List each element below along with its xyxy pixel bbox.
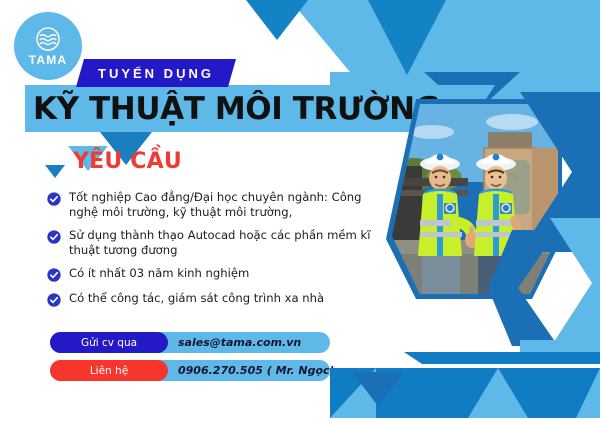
- requirements-heading: YÊU CẦU: [73, 149, 182, 174]
- requirements-list: Tốt nghiệp Cao đẳng/Đại học chuyên ngành…: [47, 190, 377, 316]
- list-item: Có ít nhất 03 năm kinh nghiệm: [47, 266, 377, 282]
- list-item: Có thể công tác, giám sát công trình xa …: [47, 291, 377, 307]
- brand-name: TAMA: [29, 53, 68, 67]
- top-triangle-dark-1: [246, 0, 308, 40]
- contact-row-email[interactable]: Gửi cv qua sales@tama.com.vn: [50, 332, 330, 353]
- contact-label: Gửi cv qua: [50, 332, 168, 353]
- list-item: Tốt nghiệp Cao đẳng/Đại học chuyên ngành…: [47, 190, 377, 219]
- contact-label: Liên hệ: [50, 360, 168, 381]
- check-circle-icon: [47, 293, 61, 307]
- contact-pill[interactable]: Liên hệ 0906.270.505 ( Mr. Ngọc): [50, 360, 330, 381]
- list-item: Sử dụng thành thạo Autocad hoặc các phần…: [47, 228, 377, 257]
- list-item-label: Sử dụng thành thạo Autocad hoặc các phần…: [69, 228, 377, 257]
- water-wave-circle-icon: [35, 26, 61, 52]
- contact-row-phone[interactable]: Liên hệ 0906.270.505 ( Mr. Ngọc): [50, 360, 330, 381]
- eyebrow-banner: TUYỂN DỤNG: [76, 59, 236, 87]
- bottom-strip-dark: [404, 352, 600, 364]
- check-circle-icon: [47, 192, 61, 206]
- check-circle-icon: [47, 230, 61, 244]
- list-item-label: Có ít nhất 03 năm kinh nghiệm: [69, 266, 249, 281]
- brand-logo: TAMA: [14, 12, 82, 80]
- eyebrow-label: TUYỂN DỤNG: [98, 66, 214, 81]
- contact-value-phone[interactable]: 0906.270.505 ( Mr. Ngọc): [178, 364, 335, 377]
- list-item-label: Có thể công tác, giám sát công trình xa …: [69, 291, 324, 306]
- contact-pill[interactable]: Gửi cv qua sales@tama.com.vn: [50, 332, 330, 353]
- title-arrow-3: [45, 165, 65, 178]
- list-item-label: Tốt nghiệp Cao đẳng/Đại học chuyên ngành…: [69, 190, 377, 219]
- bottom-strip-light: [520, 340, 600, 352]
- check-circle-icon: [47, 268, 61, 282]
- page-title: KỸ THUẬT MÔI TRƯỜNG: [33, 86, 473, 131]
- recruitment-poster: TAMA TUYỂN DỤNG KỸ THUẬT MÔI TRƯỜNG YÊU …: [0, 0, 600, 422]
- contact-value-email[interactable]: sales@tama.com.vn: [178, 336, 301, 349]
